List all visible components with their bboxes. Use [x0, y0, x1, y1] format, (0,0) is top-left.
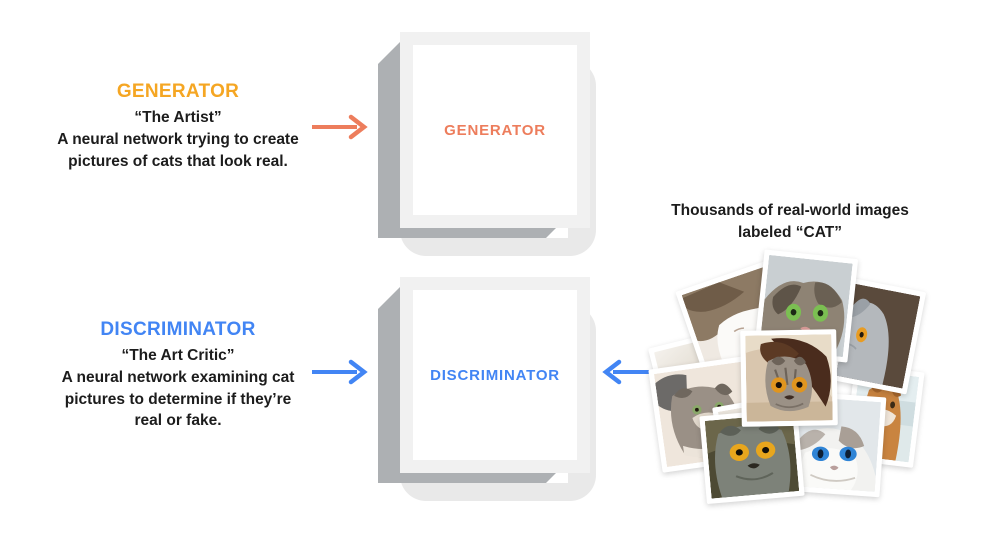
cat-photo-tabby-cat-under-brown-blanket [740, 329, 838, 427]
generator-box: GENERATOR [378, 32, 578, 242]
discriminator-arrow-right-icon [310, 358, 372, 391]
generator-nickname: “The Artist” [53, 107, 303, 128]
discriminator-box-label: DISCRIMINATOR [430, 367, 560, 384]
discriminator-box-face: DISCRIMINATOR [400, 277, 590, 473]
discriminator-nickname: “The Art Critic” [53, 345, 303, 366]
generator-box-label: GENERATOR [444, 122, 546, 139]
discriminator-box-inner-panel: DISCRIMINATOR [413, 290, 577, 460]
generator-arrow-right-icon [310, 113, 372, 146]
discriminator-heading: DISCRIMINATOR [53, 318, 303, 342]
collage-caption: Thousands of real-world images labeled “… [665, 200, 915, 244]
discriminator-text-block: DISCRIMINATOR “The Art Critic” A neural … [53, 318, 303, 432]
generator-description: A neural network trying to create pictur… [53, 129, 303, 172]
cat-photo-image [745, 334, 832, 421]
discriminator-box: DISCRIMINATOR [378, 277, 578, 487]
generator-heading: GENERATOR [53, 80, 303, 104]
generator-box-face: GENERATOR [400, 32, 590, 228]
generator-text-block: GENERATOR “The Artist” A neural network … [53, 80, 303, 172]
generator-box-inner-panel: GENERATOR [413, 45, 577, 215]
cat-photo-collage [655, 252, 910, 500]
discriminator-description: A neural network examining cat pictures … [53, 367, 303, 432]
